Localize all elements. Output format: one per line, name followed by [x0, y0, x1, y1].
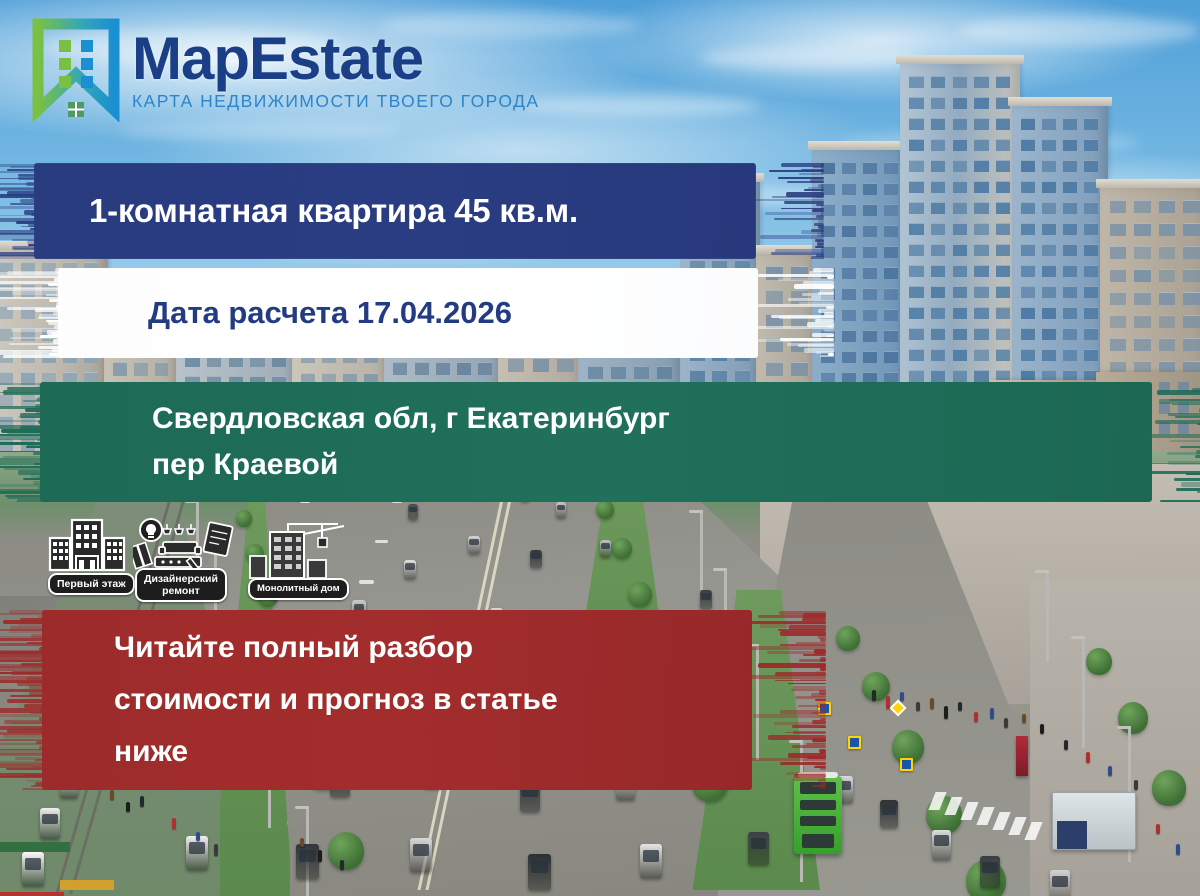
window: [1159, 292, 1175, 305]
windshield: [25, 858, 42, 870]
window: [974, 328, 988, 340]
window: [1042, 265, 1056, 277]
window: [953, 97, 967, 109]
window: [1042, 118, 1056, 130]
window: [0, 394, 13, 407]
car: [880, 800, 898, 828]
storefront-awning: [0, 842, 70, 852]
window: [884, 225, 898, 237]
logo-wordmark: MapEstate КАРТА НЕДВИЖИМОСТИ ТВОЕГО ГОРО…: [132, 18, 540, 112]
pedestrian: [196, 832, 200, 841]
pedestrian: [1176, 844, 1180, 855]
window: [1021, 265, 1035, 277]
feature-badges: Первый этаж: [48, 516, 388, 600]
windshield: [751, 838, 767, 849]
banner-address-text: Свердловская обл, г Екатеринбург пер Кра…: [40, 396, 1152, 488]
windshield: [469, 539, 478, 545]
window: [1021, 160, 1035, 172]
window: [1063, 118, 1077, 130]
window: [588, 366, 603, 379]
window: [1063, 202, 1077, 214]
windshield: [1052, 876, 1067, 887]
window: [931, 223, 945, 235]
pedestrian: [886, 696, 890, 709]
windshield: [531, 860, 548, 872]
window: [909, 181, 923, 193]
window: [1021, 202, 1035, 214]
pedestrian: [140, 796, 144, 807]
window: [634, 366, 649, 379]
storefront-awning: [60, 880, 114, 890]
window: [974, 181, 988, 193]
address-line-2: пер Краевой: [152, 442, 1152, 488]
window: [1159, 382, 1170, 394]
car: [186, 836, 208, 870]
pedestrian: [872, 690, 876, 701]
window: [974, 202, 988, 214]
city-bus: [794, 776, 842, 854]
window: [884, 330, 898, 342]
pedestrian: [1064, 740, 1068, 750]
banner-address: Свердловская обл, г Екатеринбург пер Кра…: [40, 382, 1152, 502]
window: [953, 370, 967, 382]
window: [113, 362, 127, 376]
window: [557, 358, 573, 372]
ad-panel: [1057, 821, 1087, 849]
bus-window: [800, 782, 836, 794]
window: [842, 246, 856, 258]
bus-windshield: [802, 834, 834, 848]
window: [996, 76, 1010, 88]
brand-tagline: КАРТА НЕДВИЖИМОСТИ ТВОЕГО ГОРОДА: [132, 91, 540, 112]
window: [842, 351, 856, 363]
window: [21, 372, 35, 385]
bus-window: [800, 816, 836, 826]
window: [1084, 202, 1098, 214]
car: [408, 504, 418, 520]
window: [1021, 349, 1035, 361]
brand-name: MapEstate: [132, 28, 540, 90]
window: [712, 370, 727, 383]
window: [884, 204, 898, 216]
window: [974, 139, 988, 151]
car: [40, 808, 60, 839]
window: [21, 284, 35, 297]
window: [766, 266, 783, 280]
window: [909, 160, 923, 172]
window: [766, 314, 783, 328]
window: [42, 350, 56, 363]
window: [478, 362, 492, 375]
window: [909, 265, 923, 277]
window: [21, 350, 35, 363]
window: [1134, 315, 1150, 328]
poster-canvas: 1-комнатная квартира 45 кв.м. Дата расче…: [0, 0, 1200, 896]
window: [766, 338, 783, 352]
banner-cta-text: Читайте полный разбор стоимости и прогно…: [42, 622, 752, 778]
window: [1042, 286, 1056, 298]
pedestrian: [110, 790, 114, 800]
window: [974, 307, 988, 319]
window: [1042, 244, 1056, 256]
window: [1021, 244, 1035, 256]
window: [863, 246, 877, 258]
window: [931, 286, 945, 298]
logo[interactable]: MapEstate КАРТА НЕДВИЖИМОСТИ ТВОЕГО ГОРО…: [30, 18, 540, 122]
advertising-pillar: [1016, 736, 1028, 776]
window: [1110, 269, 1126, 282]
window: [909, 202, 923, 214]
window: [1042, 181, 1056, 193]
window: [0, 306, 13, 319]
bookmark-building-icon: [30, 18, 122, 122]
window: [974, 223, 988, 235]
window: [1063, 160, 1077, 172]
car: [932, 830, 951, 860]
window: [842, 267, 856, 279]
roof-cap: [896, 55, 1024, 64]
window: [766, 362, 783, 376]
window: [953, 286, 967, 298]
window: [611, 366, 626, 379]
window: [1110, 315, 1126, 328]
window: [457, 362, 471, 375]
window: [821, 309, 835, 321]
window: [1159, 269, 1175, 282]
window: [974, 265, 988, 277]
window: [21, 416, 35, 429]
banner-title-text: 1-комнатная квартира 45 кв.м.: [34, 192, 756, 230]
window: [1159, 402, 1170, 414]
badge-designer-renovation-label: Дизайнерский ремонт: [135, 568, 227, 602]
window: [953, 202, 967, 214]
window: [791, 338, 808, 352]
window: [953, 328, 967, 340]
pedestrian: [1108, 766, 1112, 776]
windshield: [643, 850, 660, 862]
window: [953, 139, 967, 151]
pedestrian: [958, 702, 962, 711]
window: [996, 244, 1010, 256]
window: [415, 362, 429, 375]
car: [980, 856, 1000, 888]
window: [931, 349, 945, 361]
window: [821, 288, 835, 300]
window: [1063, 265, 1077, 277]
window: [863, 288, 877, 300]
pedestrian: [1086, 752, 1090, 763]
window: [1110, 246, 1126, 259]
windshield: [531, 553, 540, 559]
window: [1178, 402, 1189, 414]
window: [821, 183, 835, 195]
window: [863, 183, 877, 195]
windshield: [701, 593, 710, 599]
window: [1042, 202, 1056, 214]
window: [791, 362, 808, 376]
window: [1084, 265, 1098, 277]
window: [909, 286, 923, 298]
pedestrian: [340, 860, 344, 870]
window: [735, 370, 750, 383]
windshield: [601, 543, 609, 549]
windshield: [934, 835, 948, 845]
window: [996, 286, 1010, 298]
window: [42, 284, 56, 297]
window: [974, 244, 988, 256]
window: [1021, 223, 1035, 235]
window: [1021, 139, 1035, 151]
window: [953, 76, 967, 88]
badge-monolithic-house-label: Монолитный дом: [248, 578, 349, 600]
pedestrian: [1134, 780, 1138, 790]
window: [533, 358, 549, 372]
window: [1110, 338, 1126, 351]
window: [931, 160, 945, 172]
window: [508, 358, 524, 372]
window: [974, 349, 988, 361]
window: [909, 118, 923, 130]
window: [974, 286, 988, 298]
window: [1063, 244, 1077, 256]
window: [931, 181, 945, 193]
window: [1063, 307, 1077, 319]
storefront-awning: [0, 892, 64, 896]
banner-date: Дата расчета 17.04.2026: [58, 268, 758, 358]
window: [909, 370, 923, 382]
badge-first-floor-label: Первый этаж: [48, 573, 135, 595]
window: [1042, 349, 1056, 361]
window: [842, 204, 856, 216]
pedestrian: [126, 802, 130, 812]
window: [1159, 223, 1175, 236]
window: [1084, 307, 1098, 319]
window: [21, 262, 35, 275]
pedestrian: [974, 712, 978, 722]
window: [690, 370, 705, 383]
window: [134, 362, 148, 376]
car: [748, 832, 769, 865]
window: [1084, 223, 1098, 235]
window: [1178, 382, 1189, 394]
window: [1063, 328, 1077, 340]
banner-cta: Читайте полный разбор стоимости и прогно…: [42, 610, 752, 790]
window: [863, 330, 877, 342]
window: [909, 328, 923, 340]
window: [1063, 181, 1077, 193]
window: [42, 328, 56, 341]
window: [1134, 246, 1150, 259]
window: [909, 349, 923, 361]
window: [842, 330, 856, 342]
window: [1084, 118, 1098, 130]
window: [863, 309, 877, 321]
window: [1183, 269, 1199, 282]
window: [863, 204, 877, 216]
window: [1063, 139, 1077, 151]
windshield: [189, 842, 206, 854]
window: [953, 244, 967, 256]
window: [393, 362, 407, 375]
car: [528, 854, 551, 890]
window: [1159, 422, 1170, 434]
window: [1021, 286, 1035, 298]
window: [0, 284, 13, 297]
pedestrian: [1040, 724, 1044, 734]
window: [1183, 200, 1199, 213]
window: [1134, 292, 1150, 305]
window: [863, 162, 877, 174]
window: [42, 306, 56, 319]
window: [1134, 200, 1150, 213]
window: [953, 223, 967, 235]
window: [996, 349, 1010, 361]
car: [700, 590, 712, 609]
window: [1134, 338, 1150, 351]
windshield: [413, 844, 430, 856]
window: [863, 225, 877, 237]
window: [996, 202, 1010, 214]
window: [884, 162, 898, 174]
window: [1134, 269, 1150, 282]
window: [1183, 338, 1199, 351]
window: [821, 351, 835, 363]
cta-line-1: Читайте полный разбор: [114, 622, 752, 674]
window: [1021, 328, 1035, 340]
window: [1084, 286, 1098, 298]
windshield: [409, 507, 417, 512]
car: [404, 560, 416, 579]
window: [974, 76, 988, 88]
window: [996, 181, 1010, 193]
window: [931, 265, 945, 277]
banner-title: 1-комнатная квартира 45 кв.м.: [34, 163, 756, 259]
window: [996, 307, 1010, 319]
car: [640, 844, 662, 878]
window: [884, 267, 898, 279]
address-line-1: Свердловская обл, г Екатеринбург: [152, 396, 1152, 442]
window: [909, 223, 923, 235]
window: [1084, 160, 1098, 172]
window: [1084, 349, 1098, 361]
window: [953, 118, 967, 130]
window: [21, 306, 35, 319]
windshield: [557, 505, 565, 510]
roof-cap: [808, 141, 912, 150]
window: [884, 288, 898, 300]
window: [0, 350, 13, 363]
window: [884, 183, 898, 195]
window: [1063, 223, 1077, 235]
window: [821, 330, 835, 342]
window: [842, 309, 856, 321]
pedestrian: [300, 838, 304, 847]
pedestrian: [1022, 714, 1026, 723]
window: [996, 118, 1010, 130]
window: [931, 97, 945, 109]
window: [884, 246, 898, 258]
car: [1050, 870, 1070, 896]
window: [821, 204, 835, 216]
window: [0, 262, 13, 275]
window: [1042, 307, 1056, 319]
car: [600, 540, 611, 557]
window: [1110, 200, 1126, 213]
car: [556, 502, 566, 518]
windshield: [299, 850, 316, 862]
window: [996, 223, 1010, 235]
bus-roof: [798, 772, 838, 778]
window: [155, 362, 169, 376]
window: [974, 370, 988, 382]
window: [657, 366, 672, 379]
pedestrian: [1156, 824, 1160, 834]
window: [821, 267, 835, 279]
window: [931, 118, 945, 130]
window: [1042, 223, 1056, 235]
window: [821, 162, 835, 174]
window: [842, 288, 856, 300]
window: [884, 351, 898, 363]
car: [410, 838, 432, 872]
window: [909, 97, 923, 109]
windshield: [882, 805, 896, 815]
window: [791, 290, 808, 304]
window: [1183, 292, 1199, 305]
roof-cap: [1008, 97, 1112, 106]
window: [821, 246, 835, 258]
window: [1159, 338, 1175, 351]
window: [1084, 328, 1098, 340]
window: [953, 307, 967, 319]
window: [766, 290, 783, 304]
cta-line-2: стоимости и прогноз в статье: [114, 674, 752, 726]
window: [931, 370, 945, 382]
window: [1063, 349, 1077, 361]
window: [842, 162, 856, 174]
window: [884, 309, 898, 321]
window: [1178, 422, 1189, 434]
window: [1159, 315, 1175, 328]
cta-line-3: ниже: [114, 726, 752, 778]
bus-stop-shelter: [1052, 792, 1136, 850]
window: [0, 328, 13, 341]
pedestrian: [990, 708, 994, 719]
window: [1183, 246, 1199, 259]
pedestrian: [900, 692, 904, 701]
window: [931, 76, 945, 88]
pedestrian: [172, 818, 176, 829]
window: [1042, 160, 1056, 172]
window: [953, 265, 967, 277]
pedestrian: [1004, 718, 1008, 728]
window: [931, 202, 945, 214]
window: [1063, 286, 1077, 298]
window: [909, 139, 923, 151]
window: [1183, 223, 1199, 236]
window: [1084, 244, 1098, 256]
window: [0, 416, 13, 429]
window: [791, 314, 808, 328]
window: [1084, 139, 1098, 151]
window: [996, 328, 1010, 340]
windshield: [42, 814, 57, 825]
window: [1110, 292, 1126, 305]
window: [1159, 200, 1175, 213]
window: [1183, 315, 1199, 328]
window: [21, 394, 35, 407]
window: [974, 118, 988, 130]
